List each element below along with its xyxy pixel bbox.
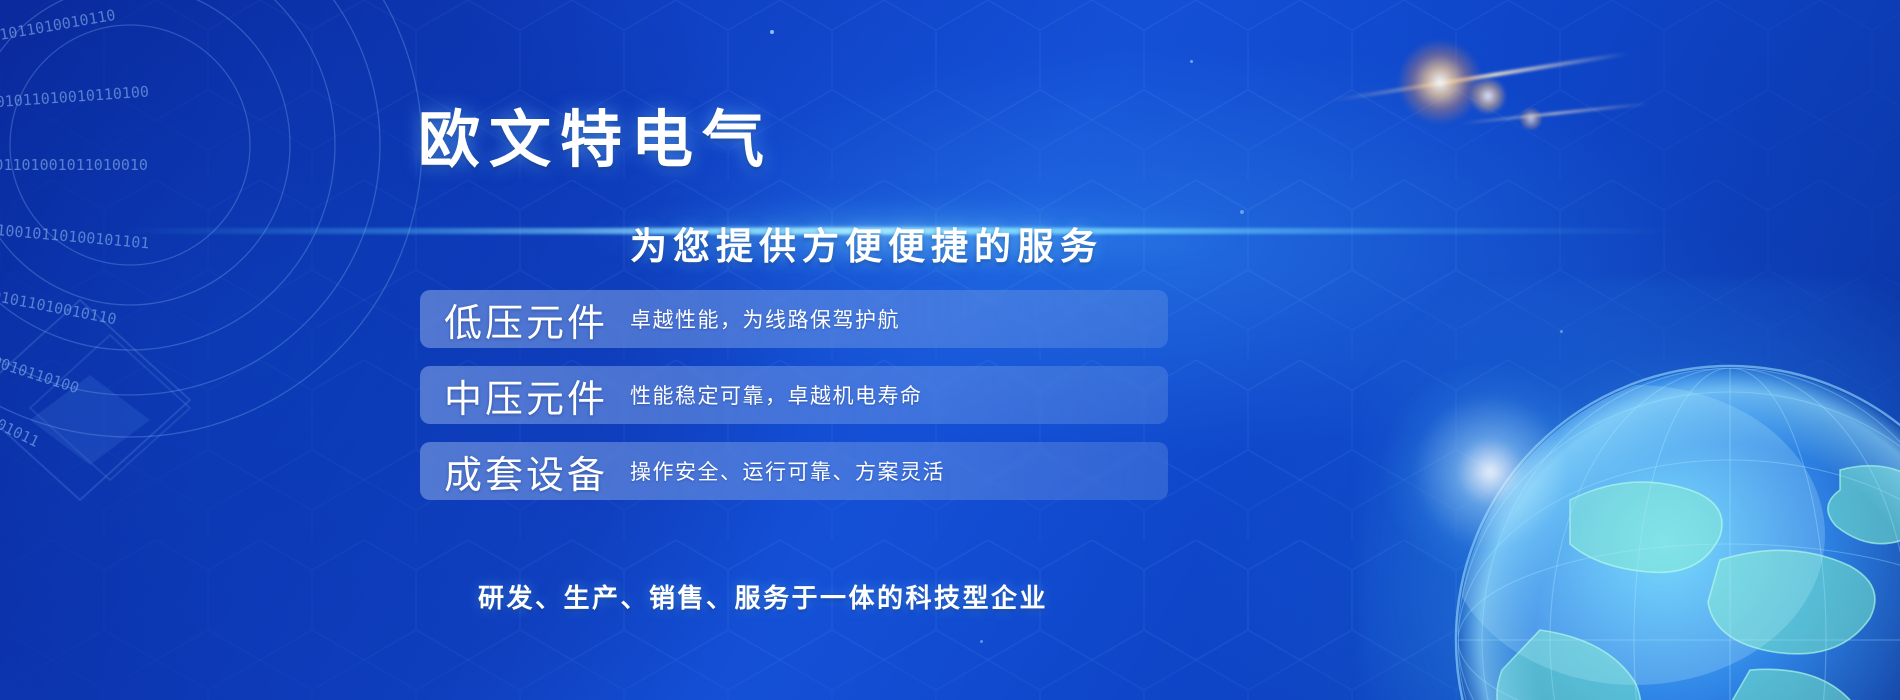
feature-item-complete-equipment[interactable]: 成套设备 操作安全、运行可靠、方案灵活 [420,442,1168,500]
feature-item-medium-voltage[interactable]: 中压元件 性能稳定可靠，卓越机电寿命 [420,366,1168,424]
hero-banner: 10101101001010110100 0101001011010010110… [0,0,1900,700]
page-title: 欧文特电气 [418,108,773,173]
banner-content: 欧文特电气 为您提供方便便捷的服务 低压元件 卓越性能，为线路保驾护航 中压元件… [0,0,1900,700]
feature-description: 卓越性能，为线路保驾护航 [630,304,900,334]
feature-item-low-voltage[interactable]: 低压元件 卓越性能，为线路保驾护航 [420,290,1168,348]
feature-description: 操作安全、运行可靠、方案灵活 [630,456,945,486]
feature-list: 低压元件 卓越性能，为线路保驾护航 中压元件 性能稳定可靠，卓越机电寿命 成套设… [420,290,1170,518]
feature-title: 低压元件 [444,292,608,347]
company-tagline: 研发、生产、销售、服务于一体的科技型企业 [478,578,1048,615]
page-subtitle: 为您提供方便便捷的服务 [630,216,1103,270]
feature-title: 中压元件 [444,368,608,423]
feature-title: 成套设备 [444,444,608,499]
feature-description: 性能稳定可靠，卓越机电寿命 [630,380,923,410]
